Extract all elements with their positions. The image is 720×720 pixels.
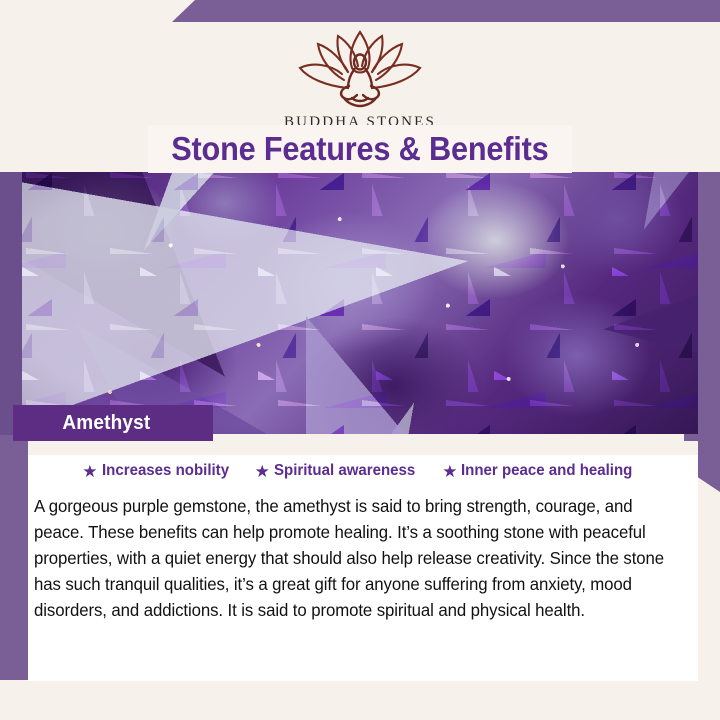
benefit-label: Increases nobility — [102, 462, 229, 480]
benefits-list: ★ Increases nobility ★ Spiritual awarene… — [28, 462, 698, 480]
benefit-label: Inner peace and healing — [461, 462, 632, 480]
benefit-item: ★ Spiritual awareness — [255, 462, 425, 480]
star-icon: ★ — [82, 463, 97, 480]
star-icon: ★ — [442, 463, 457, 480]
benefit-item: ★ Increases nobility — [82, 462, 236, 480]
title-banner: Stone Features & Benefits — [148, 125, 572, 173]
infographic-page: BUDDHA STONES Stone Features & Benefits … — [0, 0, 720, 720]
benefit-item: ★ Inner peace and healing — [442, 462, 644, 480]
page-title: Stone Features & Benefits — [171, 130, 548, 168]
stone-description: A gorgeous purple gemstone, the amethyst… — [34, 493, 664, 623]
stone-name-bar: Amethyst — [13, 405, 213, 441]
stone-name: Amethyst — [62, 412, 150, 435]
top-purple-band — [0, 0, 720, 22]
brand-logo: BUDDHA STONES — [0, 28, 720, 131]
bottom-cream-strip — [0, 680, 720, 720]
left-purple-band — [0, 432, 28, 692]
benefit-label: Spiritual awareness — [274, 462, 415, 480]
amethyst-photo — [22, 172, 698, 434]
panel-top-tint — [28, 441, 698, 455]
content-panel: ★ Increases nobility ★ Spiritual awarene… — [28, 441, 698, 681]
left-upper-purple-band — [0, 170, 22, 435]
star-icon: ★ — [255, 463, 270, 480]
photo-vignette — [22, 172, 698, 434]
lotus-meditation-icon — [286, 28, 434, 112]
